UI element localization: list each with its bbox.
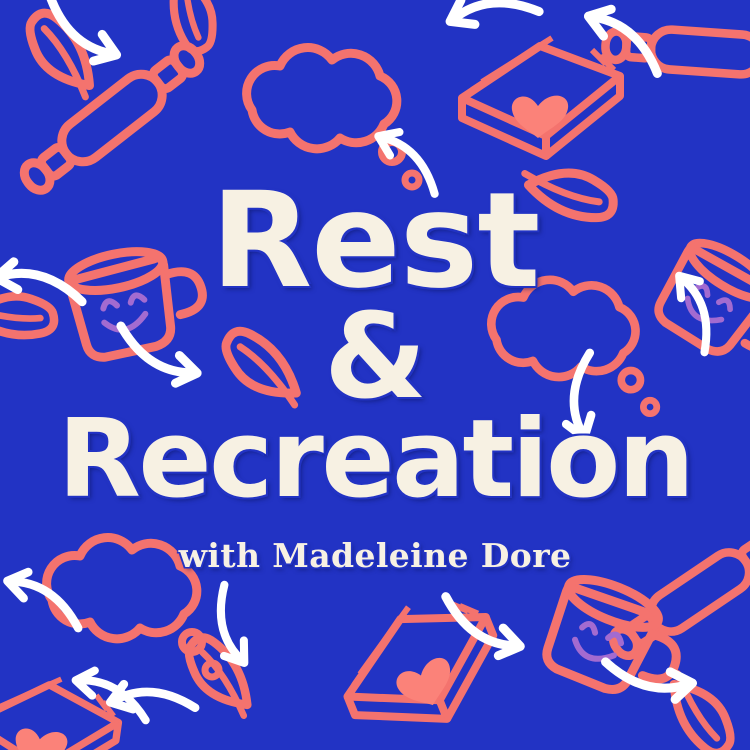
book-top-right <box>462 38 620 156</box>
mug-left <box>65 238 211 361</box>
thought-cloud-top <box>247 48 419 187</box>
arrow-bottom-center-down <box>190 585 270 670</box>
leaf-mid-left <box>219 329 304 404</box>
arrow-top-center <box>444 0 540 53</box>
podcast-cover-art: Rest & Recreation with Madeleine Dore <box>0 0 750 750</box>
book-bottom-center <box>325 582 516 750</box>
decoration-layer <box>0 0 750 750</box>
leaf-top-center <box>147 0 237 56</box>
leaf-mid-right <box>525 150 618 236</box>
decoration-group-mugs <box>65 233 750 710</box>
